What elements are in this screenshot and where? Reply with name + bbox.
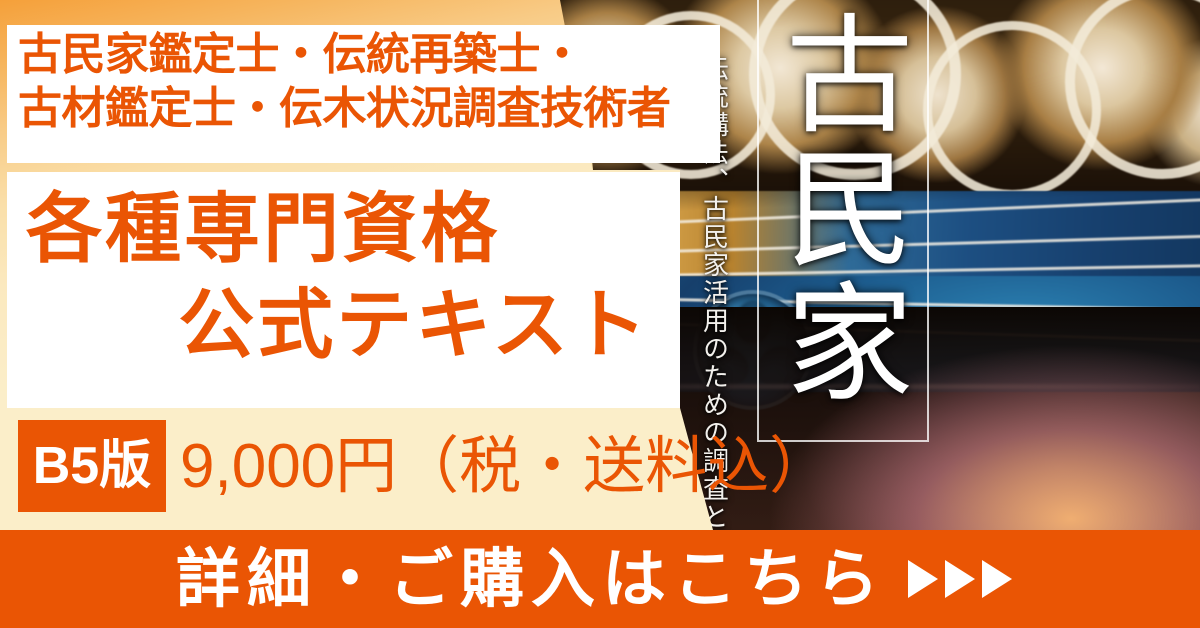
main-title: 各種専門資格 公式テキスト — [0, 182, 672, 374]
promo-banner: 伝統構法、古民家活用のための調査と再生の 古民家 古民家鑑定士・伝統再築士・ 古… — [0, 0, 1200, 628]
book-cover-title: 古民家 — [775, 8, 905, 410]
cta-bar[interactable]: 詳細・ご購入はこちら — [0, 530, 1200, 628]
cta-inner: 詳細・ご購入はこちら — [176, 547, 1012, 611]
triangle-right-icon — [982, 560, 1012, 598]
triangle-right-icon — [908, 560, 938, 598]
qualification-headline: 古民家鑑定士・伝統再築士・ 古材鑑定士・伝木状況調査技術者 — [18, 28, 708, 135]
price-text: 9,000円（税・送料込） — [180, 424, 831, 510]
headline-line-2: 古材鑑定士・伝木状況調査技術者 — [18, 82, 708, 136]
cta-arrow-group — [908, 560, 1012, 598]
main-title-line-2: 公式テキスト — [0, 278, 672, 374]
triangle-right-icon — [945, 560, 975, 598]
cta-label: 詳細・ご購入はこちら — [176, 547, 886, 611]
headline-line-1: 古民家鑑定士・伝統再築士・ — [18, 28, 708, 82]
format-badge: B5版 — [18, 420, 166, 512]
main-title-line-1: 各種専門資格 — [0, 182, 672, 278]
